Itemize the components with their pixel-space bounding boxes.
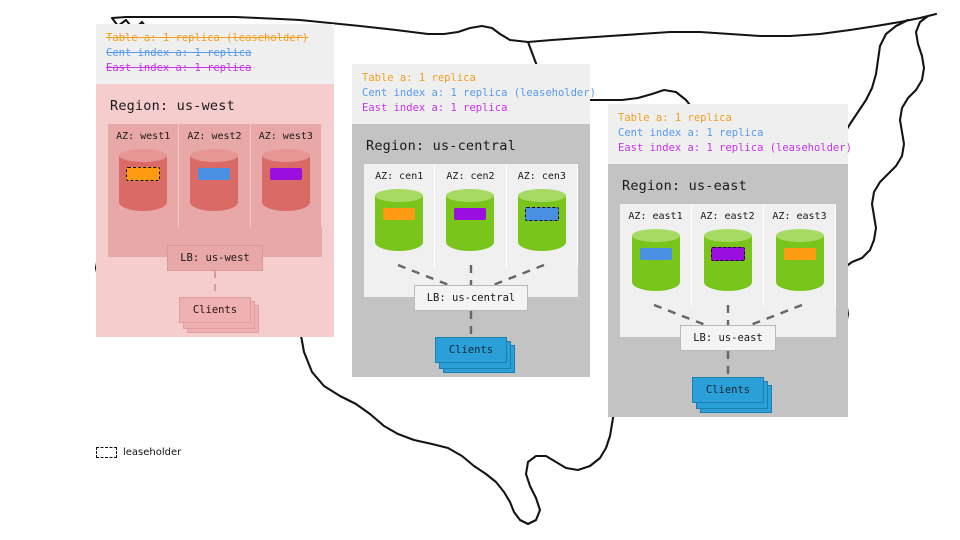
range-replica-cent-index <box>198 168 230 180</box>
cylinder-top <box>518 189 566 202</box>
cylinder-top <box>704 229 752 242</box>
az-east1[interactable]: AZ: east1 <box>620 204 692 307</box>
az-label-cen3: AZ: cen3 <box>513 171 571 182</box>
cylinder-body <box>375 195 423 251</box>
lb-to-clients-connector-us-central <box>364 311 578 337</box>
node-cylinder-east3[interactable] <box>776 229 824 297</box>
diagram-canvas: Table a: 1 replica (leaseholder) Cent in… <box>0 0 960 540</box>
clients-box-us-east[interactable]: Clients <box>692 377 764 403</box>
clients-stack-us-west[interactable]: Clients <box>179 297 251 323</box>
replica-summary-us-east: Table a: 1 replica Cent index a: 1 repli… <box>608 104 848 164</box>
range-replica-cent-index <box>640 248 672 260</box>
range-replica-table-leaseholder <box>126 167 160 181</box>
replica-line-table: Table a: 1 replica <box>618 111 838 126</box>
cylinder-body <box>704 235 752 291</box>
load-balancer-us-central[interactable]: LB: us-central <box>414 285 529 311</box>
az-label-west3: AZ: west3 <box>257 131 315 142</box>
region-panel-us-west[interactable]: Table a: 1 replica (leaseholder) Cent in… <box>96 24 334 337</box>
az-strip-us-east: AZ: east1 AZ: east2 AZ <box>620 204 836 337</box>
legend-leaseholder-key: leaseholder <box>96 447 181 458</box>
legend-leaseholder-label: leaseholder <box>123 447 181 458</box>
connector-line <box>108 271 322 297</box>
az-label-west1: AZ: west1 <box>114 131 172 142</box>
replica-line-east-index: East index a: 1 replica (leaseholder) <box>618 141 838 156</box>
node-cylinder-cen2[interactable] <box>446 189 494 257</box>
lb-to-clients-connector-us-west <box>108 271 322 297</box>
az-label-cen1: AZ: cen1 <box>370 171 428 182</box>
replica-line-table: Table a: 1 replica (leaseholder) <box>106 31 324 46</box>
load-balancer-us-west[interactable]: LB: us-west <box>167 245 263 271</box>
replica-line-east-index: East index a: 1 replica <box>106 61 324 76</box>
node-cylinder-west2[interactable] <box>190 149 238 217</box>
region-body-us-east: Region: us-east AZ: east1 AZ: east2 <box>608 164 848 417</box>
cylinder-top <box>776 229 824 242</box>
connector-line <box>364 311 578 337</box>
replica-summary-us-west: Table a: 1 replica (leaseholder) Cent in… <box>96 24 334 84</box>
range-replica-table <box>383 208 415 220</box>
node-cylinder-west3[interactable] <box>262 149 310 217</box>
cylinder-top <box>262 149 310 162</box>
az-label-west2: AZ: west2 <box>185 131 243 142</box>
az-west1[interactable]: AZ: west1 <box>108 124 179 227</box>
az-cen1[interactable]: AZ: cen1 <box>364 164 435 267</box>
node-cylinder-cen1[interactable] <box>375 189 423 257</box>
cylinder-body <box>119 155 167 211</box>
clients-stack-us-east[interactable]: Clients <box>692 377 764 403</box>
cylinder-body <box>776 235 824 291</box>
az-label-cen2: AZ: cen2 <box>441 171 499 182</box>
az-label-east3: AZ: east3 <box>770 211 829 222</box>
az-label-east2: AZ: east2 <box>698 211 757 222</box>
replica-line-table: Table a: 1 replica <box>362 71 580 86</box>
connector-line <box>620 351 836 377</box>
node-cylinder-east2[interactable] <box>704 229 752 297</box>
lb-to-clients-connector-us-east <box>620 351 836 377</box>
region-title-us-central: Region: us-central <box>366 138 578 154</box>
az-west3[interactable]: AZ: west3 <box>251 124 322 227</box>
replica-summary-us-central: Table a: 1 replica Cent index a: 1 repli… <box>352 64 590 124</box>
range-replica-east-index-leaseholder <box>711 247 745 261</box>
range-replica-table <box>784 248 816 260</box>
cylinder-top <box>375 189 423 202</box>
az-west2[interactable]: AZ: west2 <box>179 124 250 227</box>
az-strip-us-central: AZ: cen1 AZ: cen2 AZ: <box>364 164 578 297</box>
az-strip-us-west: AZ: west1 AZ: west2 AZ <box>108 124 322 257</box>
node-cylinder-east1[interactable] <box>632 229 680 297</box>
az-cen3[interactable]: AZ: cen3 <box>507 164 578 267</box>
region-body-us-west: Region: us-west AZ: west1 AZ: west2 <box>96 84 334 337</box>
cylinder-top <box>446 189 494 202</box>
replica-line-cent-index: Cent index a: 1 replica <box>618 126 838 141</box>
cylinder-body <box>190 155 238 211</box>
replica-line-cent-index: Cent index a: 1 replica <box>106 46 324 61</box>
cylinder-top <box>632 229 680 242</box>
az-east3[interactable]: AZ: east3 <box>764 204 836 307</box>
node-cylinder-west1[interactable] <box>119 149 167 217</box>
cylinder-top <box>190 149 238 162</box>
az-label-east1: AZ: east1 <box>626 211 685 222</box>
region-panel-us-central[interactable]: Table a: 1 replica Cent index a: 1 repli… <box>352 64 590 377</box>
region-title-us-west: Region: us-west <box>110 98 322 114</box>
range-replica-east-index <box>454 208 486 220</box>
cylinder-body <box>446 195 494 251</box>
az-cen2[interactable]: AZ: cen2 <box>435 164 506 267</box>
clients-box-us-central[interactable]: Clients <box>435 337 507 363</box>
range-replica-east-index <box>270 168 302 180</box>
clients-stack-us-central[interactable]: Clients <box>435 337 507 363</box>
replica-line-east-index: East index a: 1 replica <box>362 101 580 116</box>
region-body-us-central: Region: us-central AZ: cen1 AZ: cen2 <box>352 124 590 377</box>
region-title-us-east: Region: us-east <box>622 178 836 194</box>
cylinder-top <box>119 149 167 162</box>
range-replica-cent-index-leaseholder <box>525 207 559 221</box>
cylinder-body <box>518 195 566 251</box>
node-cylinder-cen3[interactable] <box>518 189 566 257</box>
load-balancer-us-east[interactable]: LB: us-east <box>680 325 776 351</box>
replica-line-cent-index: Cent index a: 1 replica (leaseholder) <box>362 86 580 101</box>
az-east2[interactable]: AZ: east2 <box>692 204 764 307</box>
dashed-rect-icon <box>96 447 117 458</box>
region-panel-us-east[interactable]: Table a: 1 replica Cent index a: 1 repli… <box>608 104 848 417</box>
clients-box-us-west[interactable]: Clients <box>179 297 251 323</box>
cylinder-body <box>632 235 680 291</box>
cylinder-body <box>262 155 310 211</box>
